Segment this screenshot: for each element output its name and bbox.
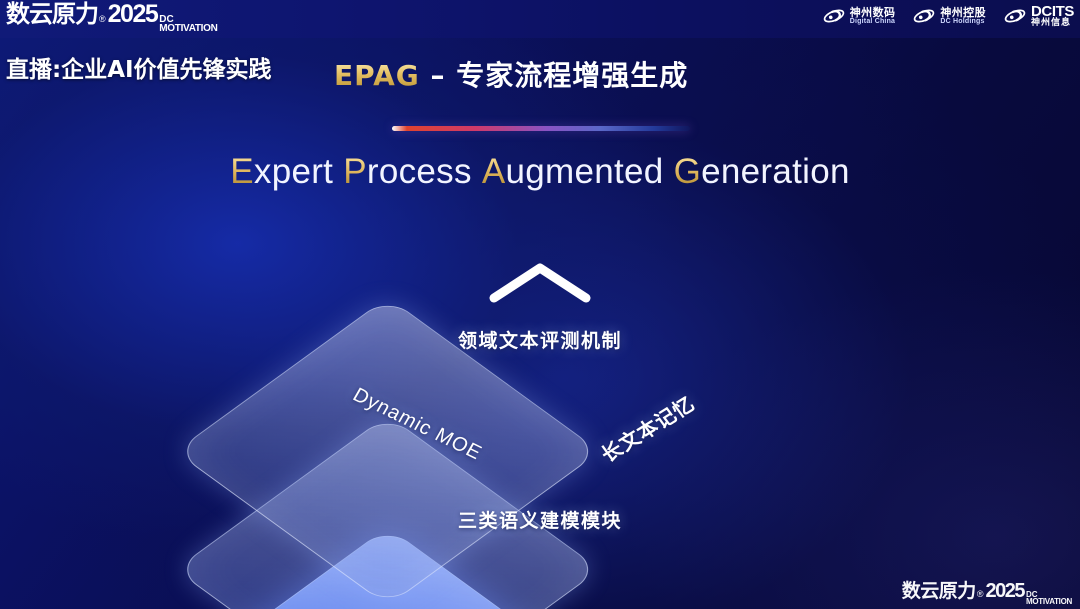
layered-architecture-diagram: 领域文本评测机制 Dynamic MOE 长文本记忆 三类语义建模模块 (282, 218, 798, 588)
headline-chinese: 专家流程增强生成 (456, 59, 688, 92)
layer-label-top: 领域文本评测机制 (282, 326, 798, 353)
page-title: EPAG – 专家流程增强生成 (334, 54, 688, 94)
partner-logo-digital-china: 神州数码 Digital China (822, 4, 896, 28)
gradient-divider (392, 126, 690, 131)
partner-name-en: Digital China (850, 18, 896, 25)
header-bar: 数云原力 ® 2025 DC MOTIVATION (0, 0, 1080, 38)
word-2-rest: rocess (367, 152, 472, 191)
brand-year: 2025 (108, 2, 158, 27)
watermark-dc-motivation: DC MOTIVATION (1026, 591, 1072, 605)
live-banner-text: 直播:企业AI价值先锋实践 (6, 50, 272, 84)
watermark-dc-line2: MOTIVATION (1026, 598, 1072, 605)
watermark-year: 2025 (985, 581, 1024, 601)
brand-name-cn: 数云原力 (6, 2, 98, 26)
partner-logo-text: DCITS 神州信息 (1031, 4, 1074, 28)
english-subtitle: Expert Process Augmented Generation (0, 152, 1080, 192)
word-4-rest: eneration (701, 152, 850, 191)
swirl-icon (1003, 4, 1027, 28)
brand-dc-line2: MOTIVATION (159, 25, 217, 34)
slide-canvas: 数云原力 ® 2025 DC MOTIVATION (0, 0, 1080, 609)
layer-label-bottom: 三类语义建模模块 (282, 506, 798, 533)
partner-logo-text: 神州控股 DC Holdings (940, 7, 986, 25)
partner-name-en: DC Holdings (940, 18, 986, 25)
watermark-name-cn: 数云原力 (902, 582, 976, 601)
partner-logo-group: 神州数码 Digital China 神州控股 DC (822, 4, 1074, 28)
word-1-rest: xpert (254, 152, 333, 191)
word-2-cap: P (343, 152, 367, 191)
brand-logo-watermark: 数云原力 ® 2025 DC MOTIVATION (902, 581, 1072, 605)
word-3-cap: A (482, 152, 506, 191)
partner-logo-dcits: DCITS 神州信息 (1003, 4, 1074, 28)
watermark-registered-mark: ® (977, 589, 984, 599)
swirl-icon (912, 4, 936, 28)
partner-name-cn: 神州控股 (940, 7, 986, 18)
brand-registered-mark: ® (99, 14, 106, 24)
word-1-cap: E (230, 152, 254, 191)
brand-logo-header: 数云原力 ® 2025 DC MOTIVATION (6, 2, 218, 34)
word-4-cap: G (674, 152, 702, 191)
word-3-rest: ugmented (505, 152, 663, 191)
partner-name-cn: 神州数码 (850, 7, 896, 18)
headline-separator: – (420, 59, 457, 92)
layer-label-middle-right: 长文本记忆 (594, 388, 700, 467)
swirl-icon (822, 4, 846, 28)
partner-logo-text: 神州数码 Digital China (850, 7, 896, 25)
partner-logo-dc-holdings: 神州控股 DC Holdings (912, 4, 986, 28)
partner-name-cn: 神州信息 (1031, 19, 1074, 28)
headline-acronym: EPAG (334, 59, 420, 92)
brand-dc-motivation: DC MOTIVATION (159, 16, 217, 34)
chevron-up-icon (488, 260, 592, 304)
partner-name-en: DCITS (1031, 4, 1074, 19)
